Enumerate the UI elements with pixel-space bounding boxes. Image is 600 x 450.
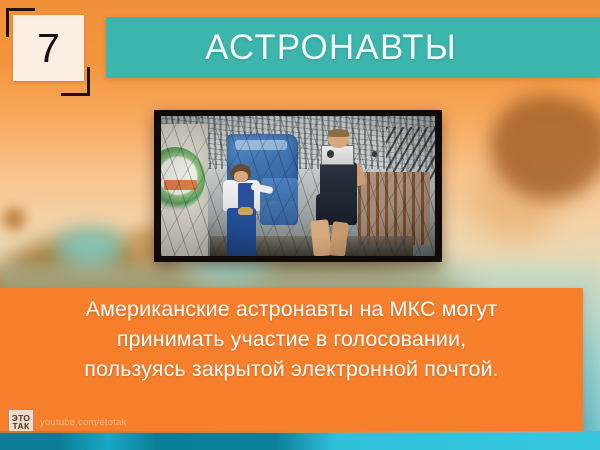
number-badge: 7 bbox=[6, 8, 98, 96]
caption-line-2: принимать участие в голосовании, bbox=[0, 324, 583, 354]
logo-line-2: ТАК bbox=[13, 422, 30, 431]
caption-text: Американские астронавты на МКС могут при… bbox=[0, 294, 583, 384]
page-title: АСТРОНАВТЫ bbox=[205, 30, 501, 65]
photo-content bbox=[161, 116, 435, 256]
photo-iss-astronauts bbox=[161, 116, 435, 256]
caption-line-1: Американские астронавты на МКС могут bbox=[0, 294, 583, 324]
background-blob-dot bbox=[3, 208, 25, 230]
badge-number-text: 7 bbox=[13, 15, 84, 81]
slide-root: 7 АСТРОНАВТЫ bbox=[0, 0, 600, 450]
channel-url-text: youtube.com/etotak bbox=[40, 417, 127, 428]
photo-frame bbox=[154, 110, 442, 262]
title-bar: АСТРОНАВТЫ bbox=[106, 17, 600, 78]
photo-vignette bbox=[161, 116, 435, 256]
bottom-strip bbox=[0, 433, 600, 450]
caption-line-3: пользуясь закрытой электронной почтой. bbox=[0, 354, 583, 384]
